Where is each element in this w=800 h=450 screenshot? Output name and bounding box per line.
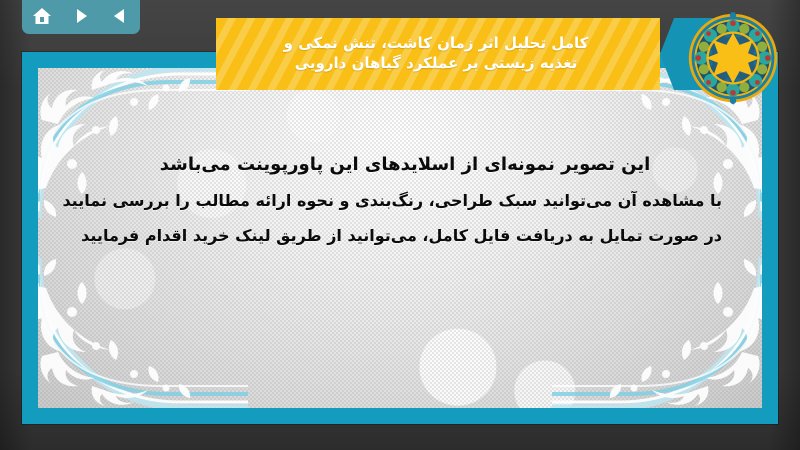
page-title-line-2: تغذیه زیستی بر عملکرد گیاهان دارویی xyxy=(284,54,589,74)
triangle-left-icon xyxy=(111,7,129,25)
slide-navigation-bar xyxy=(22,0,140,34)
title-band: کامل تحلیل اثر زمان کاشت، تنش نمکی و تغذ… xyxy=(216,18,660,90)
slide-title-banner: کامل تحلیل اثر زمان کاشت، تنش نمکی و تغذ… xyxy=(216,18,724,90)
body-line-1: این تصویر نمونه‌ای از اسلایدهای این پاور… xyxy=(88,156,722,174)
home-icon xyxy=(32,7,52,25)
content-panel-inner: این تصویر نمونه‌ای از اسلایدهای این پاور… xyxy=(38,68,762,408)
body-line-2: با مشاهده آن می‌توانید سبک طراحی، رنگ‌بن… xyxy=(88,193,722,209)
content-panel: این تصویر نمونه‌ای از اسلایدهای این پاور… xyxy=(22,52,778,424)
persian-medallion-icon xyxy=(686,11,780,105)
prev-slide-button[interactable] xyxy=(107,4,133,28)
body-text-block: این تصویر نمونه‌ای از اسلایدهای این پاور… xyxy=(88,156,722,263)
next-slide-button[interactable] xyxy=(68,4,94,28)
home-button[interactable] xyxy=(29,4,55,28)
slide-stage: این تصویر نمونه‌ای از اسلایدهای این پاور… xyxy=(0,0,800,450)
triangle-right-icon xyxy=(72,7,90,25)
body-line-3: در صورت تمایل به دریافت فایل کامل، می‌تو… xyxy=(88,228,722,244)
page-title: کامل تحلیل اثر زمان کاشت، تنش نمکی و تغذ… xyxy=(284,34,589,74)
page-title-line-1: کامل تحلیل اثر زمان کاشت، تنش نمکی و xyxy=(284,34,589,54)
